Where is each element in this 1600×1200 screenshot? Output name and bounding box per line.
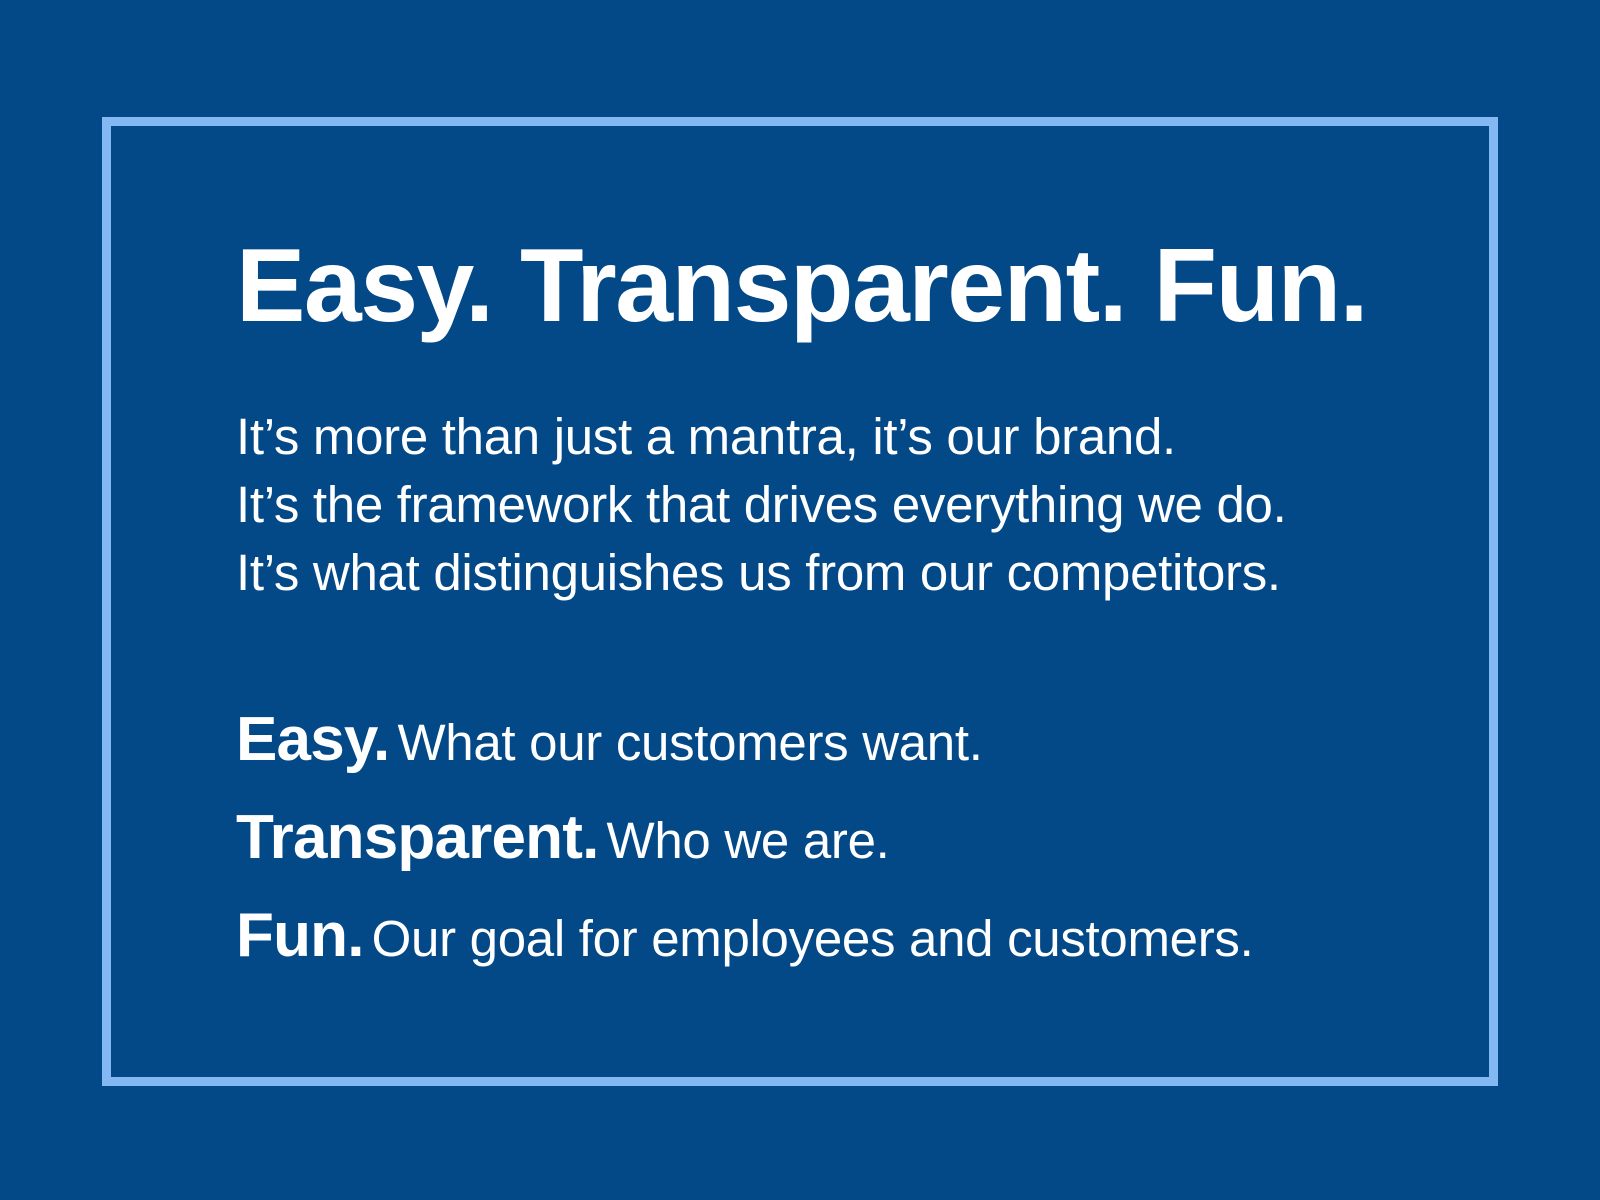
page-title: Easy. Transparent. Fun. [236, 232, 1416, 341]
pillar-description-fun: Our goal for employees and customers. [364, 910, 1254, 967]
pillar-list: Easy.What our customers want. Transparen… [236, 699, 1416, 993]
slide-content: Easy. Transparent. Fun. It’s more than j… [236, 232, 1416, 993]
pillar-item-easy: Easy.What our customers want. [236, 699, 1416, 797]
intro-line-2: It’s the framework that drives everythin… [236, 471, 1416, 539]
intro-line-3: It’s what distinguishes us from our comp… [236, 539, 1416, 607]
pillar-term-easy: Easy. [236, 705, 389, 774]
pillar-term-transparent: Transparent. [236, 803, 599, 872]
intro-paragraph: It’s more than just a mantra, it’s our b… [236, 403, 1416, 607]
pillar-description-transparent: Who we are. [599, 812, 890, 869]
slide-canvas: Easy. Transparent. Fun. It’s more than j… [0, 0, 1600, 1200]
pillar-item-transparent: Transparent.Who we are. [236, 797, 1416, 895]
pillar-description-easy: What our customers want. [389, 714, 982, 771]
pillar-term-fun: Fun. [236, 901, 364, 970]
intro-line-1: It’s more than just a mantra, it’s our b… [236, 403, 1416, 471]
pillar-item-fun: Fun.Our goal for employees and customers… [236, 895, 1416, 993]
